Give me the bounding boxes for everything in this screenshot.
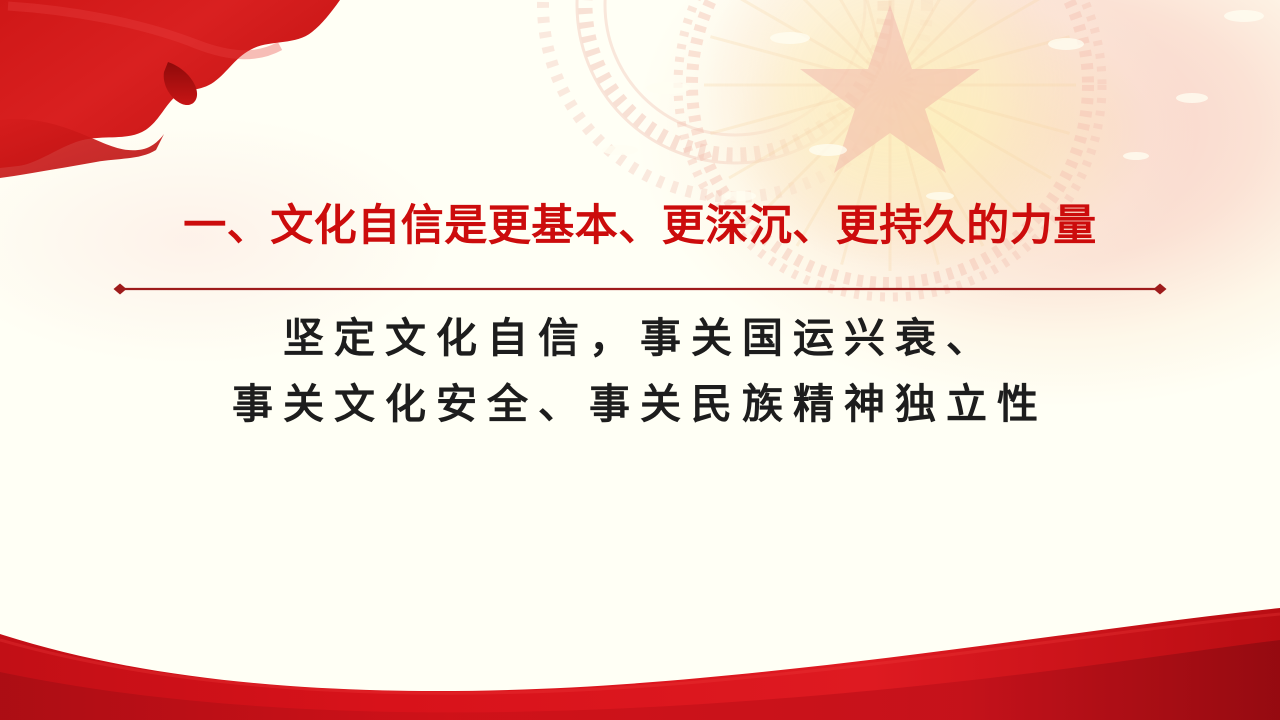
body-line-1: 坚定文化自信，事关国运兴衰、: [0, 305, 1280, 371]
diamond-marker-right-icon: [1154, 284, 1167, 295]
title-divider: [110, 283, 1170, 295]
body-paragraph: 坚定文化自信，事关国运兴衰、 事关文化安全、事关民族精神独立性: [0, 305, 1280, 437]
diamond-marker-left-icon: [114, 284, 127, 295]
slide-content: 一、文化自信是更基本、更深沉、更持久的力量 坚定文化自信，事关国运兴衰、 事关文…: [0, 0, 1280, 720]
page-title: 一、文化自信是更基本、更深沉、更持久的力量: [0, 203, 1280, 249]
body-line-2: 事关文化安全、事关民族精神独立性: [0, 371, 1280, 437]
slide-canvas: 一、文化自信是更基本、更深沉、更持久的力量 坚定文化自信，事关国运兴衰、 事关文…: [0, 0, 1280, 720]
